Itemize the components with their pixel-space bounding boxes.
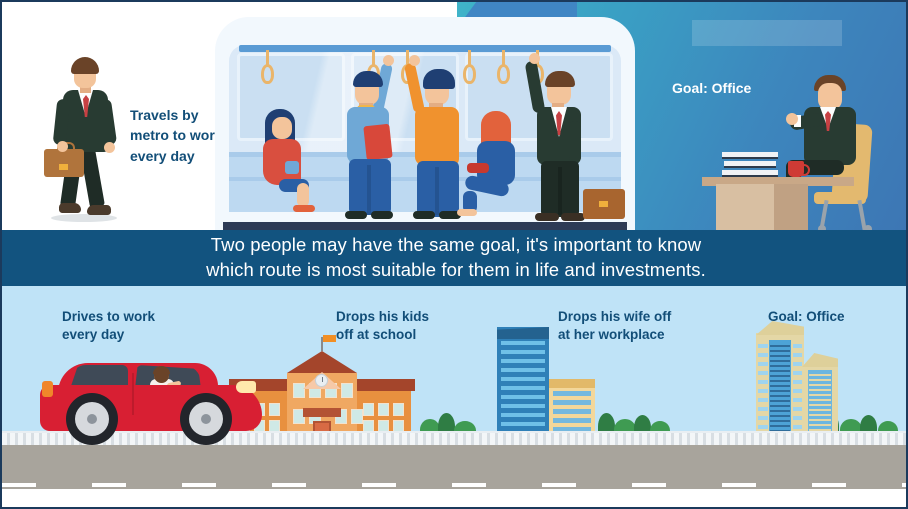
driver-hair (153, 366, 170, 374)
front-wheel (180, 393, 232, 445)
leg-seam (367, 165, 371, 215)
roof (549, 379, 595, 388)
tower-peak-roof (802, 353, 838, 367)
shoe-left (345, 211, 367, 219)
school-gable-roof (287, 351, 357, 373)
walking-businessman-illustration (47, 57, 123, 219)
left-shoe (59, 203, 81, 213)
raised-arm (525, 60, 546, 113)
banner-line-2: which route is most suitable for them in… (206, 258, 706, 283)
tower-facade-pattern (770, 342, 789, 443)
red-folder (363, 124, 392, 161)
headlight-icon (236, 381, 256, 393)
goal-office-tower-main (756, 333, 804, 445)
right-hand (104, 142, 115, 153)
desk-body (716, 184, 794, 230)
road-center-dashes (2, 483, 908, 487)
briefcase-icon (44, 149, 84, 177)
red-car-illustration (40, 361, 262, 445)
road-lower-strip (2, 489, 908, 509)
right-shoe (87, 205, 111, 215)
roof (353, 379, 415, 391)
raised-hand (529, 53, 540, 64)
book-stack (722, 151, 778, 177)
center-message-banner: Two people may have the same goal, it's … (2, 230, 908, 286)
briefcase-icon (583, 189, 625, 219)
passenger-seated-woman-red-dress (255, 113, 317, 213)
leg-seam (558, 167, 562, 215)
desk-shadow (774, 184, 808, 230)
car-door-seam (132, 373, 134, 415)
coffee-mug-icon (788, 161, 804, 177)
shoe-right (371, 211, 393, 219)
label-drops-wife-at-workplace: Drops his wife off at her workplace (558, 308, 671, 344)
briefcase-clasp (599, 201, 608, 207)
raised-arm (404, 62, 425, 113)
label-drives-to-work: Drives to work every day (62, 308, 155, 344)
label-drops-kids-at-school: Drops his kids off at school (336, 308, 429, 344)
blue-office-tower (497, 327, 549, 445)
leg-seam (435, 167, 439, 215)
taillight-icon (42, 381, 53, 397)
road-surface (2, 445, 908, 489)
hair (71, 57, 99, 74)
left-hand (57, 141, 68, 152)
hand (786, 113, 798, 125)
briefcase-clasp (59, 164, 68, 170)
face-front (272, 117, 292, 139)
shoe (293, 205, 315, 212)
passenger-standing-man-blue-shirt (343, 69, 403, 219)
tower-window-rows (501, 341, 545, 441)
red-book (467, 163, 489, 173)
infographic-canvas: Travels by metro to work every day (0, 0, 908, 509)
rear-wheel (66, 393, 118, 445)
metro-train-illustration (215, 17, 635, 230)
hand-strap-icon (261, 50, 274, 84)
metro-handrail (239, 45, 611, 52)
raised-hand (383, 55, 394, 66)
handbag (285, 161, 299, 174)
raised-hand (409, 55, 420, 66)
shoe-right (561, 213, 585, 221)
office-scene-illustration (702, 57, 902, 230)
decorative-light-rectangle (692, 20, 842, 46)
tower-side-windows (793, 344, 803, 443)
lower-leg (297, 183, 309, 207)
orange-flag-icon (323, 335, 336, 342)
metro-commute-label: Travels by metro to work every day (130, 105, 223, 166)
bottom-scene: Drives to work every day Drops his kids … (2, 286, 908, 509)
shoe-left (413, 211, 435, 219)
passenger-standing-businessman (525, 69, 591, 221)
face (818, 83, 842, 110)
tower-side-windows (758, 344, 768, 443)
metro-floor (223, 222, 627, 230)
hand-strap-icon (497, 50, 510, 84)
clock-icon (315, 374, 328, 387)
passenger-standing-man-orange-sweater (403, 69, 465, 219)
hair (545, 71, 575, 87)
foot (457, 209, 477, 216)
figure-shadow (51, 214, 117, 222)
top-scene: Travels by metro to work every day (2, 2, 908, 230)
right-arm (569, 121, 581, 163)
shoe-left (535, 213, 559, 221)
hair (353, 71, 383, 87)
hair (423, 69, 455, 89)
banner-line-1: Two people may have the same goal, it's … (211, 233, 701, 258)
right-arm (447, 121, 459, 165)
school-sign (303, 408, 341, 417)
window-grid (363, 403, 404, 433)
